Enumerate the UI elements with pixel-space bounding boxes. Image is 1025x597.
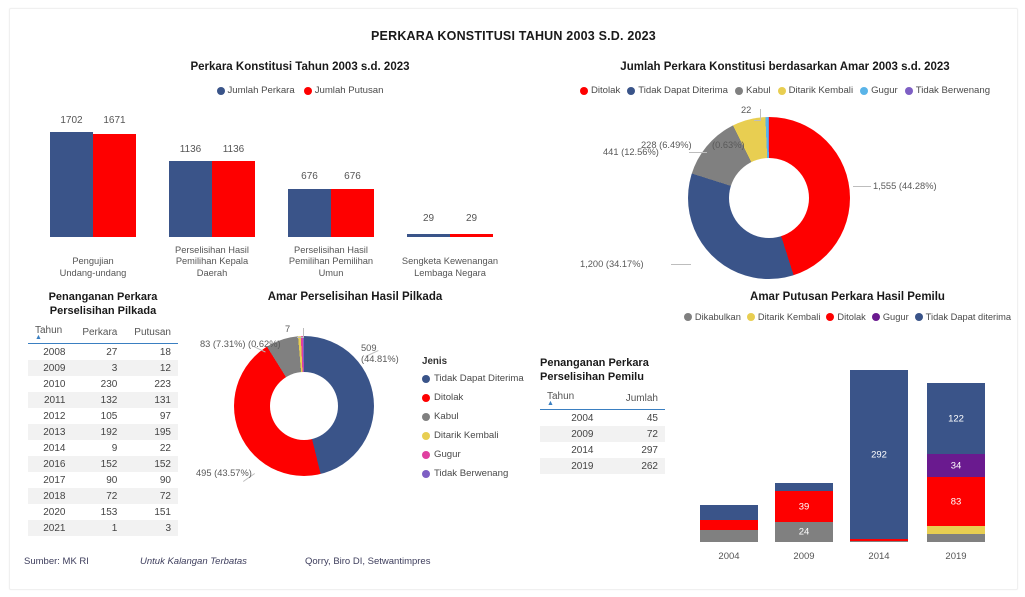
legend-dot-icon: [580, 87, 588, 95]
table-title-line2: Perselisihan Pemilu: [540, 371, 644, 383]
cell-tahun: 2019: [540, 458, 600, 474]
donut-pilkada-label-tidak-dapat-diterima: 509 (44.81%): [361, 343, 399, 365]
donut-pilkada-label-ditolak: 495 (43.57%): [196, 468, 252, 479]
cell-tahun: 2016: [28, 456, 72, 472]
donut-chart-pilkada[interactable]: [234, 336, 374, 476]
cell-tahun: 2017: [28, 472, 72, 488]
cell-jumlah: 297: [600, 442, 665, 458]
legend-dot-icon: [217, 87, 225, 95]
segment-dikabulkan[interactable]: [850, 541, 908, 542]
segment-tidak-dapat-diterima[interactable]: [700, 505, 758, 520]
legend-dot-icon: [872, 313, 880, 321]
cell-perkara: 132: [72, 392, 124, 408]
bar-value-label: 1136: [212, 144, 255, 155]
table-row[interactable]: 2014297: [540, 442, 665, 458]
donut-pilkada-label-kabul: 83 (7.31%): [200, 339, 245, 350]
legend-item-ditarik-kembali[interactable]: Ditarik Kembali: [747, 312, 821, 322]
cell-perkara: 105: [72, 408, 124, 424]
stacked-x-label-2004: 2004: [700, 551, 758, 562]
table-body: 20082718 2009312 2010230223 2011132131 2…: [28, 344, 178, 537]
cell-perkara: 230: [72, 376, 124, 392]
dashboard-panel: PERKARA KONSTITUSI TAHUN 2003 S.D. 2023 …: [9, 8, 1018, 590]
cell-tahun: 2004: [540, 410, 600, 427]
cell-tahun: 2010: [28, 376, 72, 392]
donut-amar-legend: Ditolak Tidak Dapat Diterima Kabul Ditar…: [555, 85, 1015, 96]
bar-value-label: 676: [288, 171, 331, 182]
legend-label: Jumlah Perkara: [228, 85, 295, 96]
cell-perkara: 72: [72, 488, 124, 504]
bar-putusan-pilkada[interactable]: [212, 161, 255, 237]
dashboard-canvas: PERKARA KONSTITUSI TAHUN 2003 S.D. 2023 …: [0, 0, 1025, 597]
cell-perkara: 3: [72, 360, 124, 376]
legend-dot-icon: [422, 451, 430, 459]
segment-tidak-dapat-diterima[interactable]: [775, 483, 833, 491]
table-penanganan-pemilu: Penanganan Perkara Perselisihan Pemilu T…: [540, 357, 665, 474]
leader-line: [689, 152, 707, 153]
cell-perkara: 90: [72, 472, 124, 488]
legend-label: Dikabulkan: [695, 312, 741, 322]
legend-dot-icon: [684, 313, 692, 321]
sort-ascending-icon: ▲: [547, 402, 593, 406]
bar-category-label: Perselisihan HasilPemilihan PemilihanUmu…: [289, 245, 373, 278]
stacked-bar-chart[interactable]: 2004 39 24 2009 292 2014 122: [675, 329, 1020, 564]
legend-dot-icon: [905, 87, 913, 95]
cell-tahun: 2011: [28, 392, 72, 408]
cell-putusan: 151: [124, 504, 178, 520]
donut-pilkada-legend: Jenis Tidak Dapat Diterima Ditolak Kabul…: [422, 356, 524, 479]
legend-label: Ditolak: [837, 312, 865, 322]
stacked-x-label-2014: 2014: [850, 551, 908, 562]
page-title: PERKARA KONSTITUSI TAHUN 2003 S.D. 2023: [10, 29, 1017, 43]
table-row[interactable]: 2010230223: [28, 376, 178, 392]
cell-putusan: 195: [124, 424, 178, 440]
bar-value-label: 676: [331, 171, 374, 182]
bar-chart-legend: Jumlah Perkara Jumlah Putusan: [50, 85, 550, 96]
cell-perkara: 1: [72, 520, 124, 536]
legend-label: Ditolak: [434, 392, 463, 403]
stacked-x-label-2019: 2019: [927, 551, 985, 562]
cell-putusan: 97: [124, 408, 178, 424]
legend-item-gugur[interactable]: Gugur: [872, 312, 909, 322]
legend-dot-icon: [422, 375, 430, 383]
stacked-column-2014[interactable]: 292: [850, 370, 908, 542]
bar-perkara-pengujian[interactable]: [50, 132, 93, 237]
legend-label: Ditarik Kembali: [434, 430, 499, 441]
legend-label: Ditolak: [591, 85, 620, 96]
table-row[interactable]: 2009312: [28, 360, 178, 376]
cell-tahun: 2020: [28, 504, 72, 520]
cell-perkara: 153: [72, 504, 124, 520]
cell-tahun: 2009: [28, 360, 72, 376]
cell-perkara: 27: [72, 344, 124, 361]
legend-title: Jenis: [422, 356, 524, 367]
table-row[interactable]: 2013192195: [28, 424, 178, 440]
bar-value-label: 29: [450, 213, 493, 224]
legend-label: Tidak Dapat Diterima: [434, 373, 524, 384]
footer-author: Qorry, Biro DI, Setwantimpres: [305, 556, 430, 567]
bar-value-label: 1702: [50, 115, 93, 126]
donut-amar-label-ditarik: 228 (6.49%): [641, 140, 692, 151]
cell-putusan: 90: [124, 472, 178, 488]
table-row[interactable]: 20082718: [28, 344, 178, 361]
table-row[interactable]: 2014922: [28, 440, 178, 456]
column-header-jumlah[interactable]: Jumlah: [600, 389, 665, 410]
legend-label: Tidak Berwenang: [434, 468, 508, 479]
column-header-putusan[interactable]: Putusan: [124, 323, 178, 344]
legend-label: Ditarik Kembali: [789, 85, 854, 96]
table-row[interactable]: 20187272: [28, 488, 178, 504]
cell-tahun: 2018: [28, 488, 72, 504]
legend-item-tidak-dapat-diterima[interactable]: Tidak Dapat Diterima: [627, 85, 728, 96]
table-row[interactable]: 200972: [540, 426, 665, 442]
table-row[interactable]: 201210597: [28, 408, 178, 424]
segment-value-label: 34: [927, 460, 985, 471]
bar-category-label: PengujianUndang-undang: [60, 256, 127, 278]
table-row[interactable]: 202113: [28, 520, 178, 536]
segment-ditolak[interactable]: [700, 520, 758, 530]
legend-label: Tidak Dapat Diterima: [638, 85, 728, 96]
donut-pilkada-label-ditarik-pct: (0.62%): [248, 339, 281, 350]
cell-tahun: 2012: [28, 408, 72, 424]
bar-perkara-pilkada[interactable]: [169, 161, 212, 237]
segment-dikabulkan[interactable]: [700, 530, 758, 542]
donut-hole: [270, 372, 338, 440]
cell-tahun: 2014: [28, 440, 72, 456]
legend-item-ditarik-kembali[interactable]: Ditarik Kembali: [422, 430, 524, 441]
legend-dot-icon: [747, 313, 755, 321]
cell-tahun: 2014: [540, 442, 600, 458]
segment-dikabulkan[interactable]: 24: [775, 522, 833, 542]
label-value: 509: [361, 343, 377, 353]
segment-dikabulkan[interactable]: [927, 534, 985, 542]
legend-label: Jumlah Putusan: [315, 85, 384, 96]
legend-dot-icon: [422, 470, 430, 478]
cell-putusan: 22: [124, 440, 178, 456]
bar-category-label: Perselisihan HasilPemilihan KepalaDaerah: [175, 245, 249, 278]
legend-label: Tidak Dapat diterima: [926, 312, 1011, 322]
legend-item-tidak-dapat-diterima[interactable]: Tidak Dapat diterima: [915, 312, 1011, 322]
legend-dot-icon: [915, 313, 923, 321]
legend-item-ditolak[interactable]: Ditolak: [826, 312, 865, 322]
table-body: 200445 200972 2014297 2019262: [540, 410, 665, 475]
table: Tahun ▲ Perkara Putusan 20082718 2009312…: [28, 323, 178, 536]
donut-hole: [729, 158, 809, 238]
cell-tahun: 2008: [28, 344, 72, 361]
legend-dot-icon: [304, 87, 312, 95]
segment-value-label: 24: [775, 527, 833, 538]
sort-ascending-icon: ▲: [35, 336, 65, 340]
bar-value-label: 29: [407, 213, 450, 224]
legend-item-gugur[interactable]: Gugur: [860, 85, 898, 96]
bar-putusan-pemilu[interactable]: [331, 189, 374, 237]
segment-tidak-dapat-diterima[interactable]: 122: [927, 383, 985, 454]
legend-item-ditolak[interactable]: Ditolak: [422, 392, 524, 403]
legend-dot-icon: [860, 87, 868, 95]
legend-item-tidak-dapat-diterima[interactable]: Tidak Dapat Diterima: [422, 373, 524, 384]
legend-item-jumlah-putusan[interactable]: Jumlah Putusan: [304, 85, 384, 96]
segment-gugur[interactable]: 34: [927, 454, 985, 477]
donut-amar-label-ditolak: 1,555 (44.28%): [873, 181, 937, 192]
legend-dot-icon: [778, 87, 786, 95]
cell-tahun: 2013: [28, 424, 72, 440]
legend-item-jumlah-perkara[interactable]: Jumlah Perkara: [217, 85, 295, 96]
table-row[interactable]: 200445: [540, 410, 665, 427]
table-title-line1: Penanganan Perkara: [49, 291, 158, 303]
stacked-column-2019[interactable]: 122 34 83: [927, 383, 985, 542]
table-row[interactable]: 2016152152: [28, 456, 178, 472]
cell-putusan: 3: [124, 520, 178, 536]
cell-putusan: 18: [124, 344, 178, 361]
stacked-column-2004[interactable]: [700, 505, 758, 542]
donut-amar-label-gugur-pct: (0.63%): [712, 140, 745, 151]
table-row[interactable]: 20179090: [28, 472, 178, 488]
cell-tahun: 2021: [28, 520, 72, 536]
legend-dot-icon: [422, 394, 430, 402]
legend-item-gugur[interactable]: Gugur: [422, 449, 524, 460]
donut-amar-label-tidak-dapat-diterima: 1,200 (34.17%): [580, 259, 644, 270]
leader-line: [297, 337, 304, 338]
legend-item-kabul[interactable]: Kabul: [735, 85, 771, 96]
legend-label: Ditarik Kembali: [758, 312, 821, 322]
segment-value-label: 292: [850, 449, 908, 460]
legend-item-ditolak[interactable]: Ditolak: [580, 85, 620, 96]
table-penanganan-pilkada: Penanganan Perkara Perselisihan Pilkada …: [28, 291, 178, 536]
cell-putusan: 223: [124, 376, 178, 392]
segment-tidak-dapat-diterima[interactable]: 292: [850, 370, 908, 539]
segment-value-label: 39: [775, 501, 833, 512]
segment-ditarik-kembali[interactable]: [927, 526, 985, 534]
table-title-line2: Perselisihan Pilkada: [50, 305, 156, 317]
segment-value-label: 122: [927, 413, 985, 424]
donut-pilkada-label-ditarik-value: 7: [285, 324, 290, 335]
stacked-column-2009[interactable]: 39 24: [775, 483, 833, 542]
stacked-chart-legend: Dikabulkan Ditarik Kembali Ditolak Gugur…: [670, 312, 1025, 322]
bar-chart-title: Perkara Konstitusi Tahun 2003 s.d. 2023: [50, 61, 550, 73]
donut-pilkada-title: Amar Perselisihan Hasil Pilkada: [195, 291, 515, 303]
table-header-row: Tahun ▲ Perkara Putusan: [28, 323, 178, 344]
segment-value-label: 83: [927, 496, 985, 507]
bar-chart[interactable]: 1702 1671 PengujianUndang-undang 1136 11…: [50, 109, 550, 279]
legend-label: Gugur: [883, 312, 909, 322]
label-percent: (44.81%): [361, 354, 399, 364]
table-row[interactable]: 2019262: [540, 458, 665, 474]
segment-ditolak[interactable]: 83: [927, 477, 985, 526]
cell-perkara: 192: [72, 424, 124, 440]
table-row[interactable]: 2011132131: [28, 392, 178, 408]
column-header-tahun[interactable]: Tahun ▲: [28, 323, 72, 344]
legend-label: Kabul: [434, 411, 459, 422]
segment-ditolak[interactable]: 39: [775, 491, 833, 522]
legend-item-kabul[interactable]: Kabul: [422, 411, 524, 422]
legend-label: Tidak Berwenang: [916, 85, 990, 96]
bar-perkara-sengketa[interactable]: [407, 234, 450, 237]
bar-perkara-pemilu[interactable]: [288, 189, 331, 237]
legend-label: Kabul: [746, 85, 771, 96]
legend-dot-icon: [627, 87, 635, 95]
bar-putusan-pengujian[interactable]: [93, 134, 136, 237]
cell-putusan: 12: [124, 360, 178, 376]
cell-putusan: 131: [124, 392, 178, 408]
cell-putusan: 152: [124, 456, 178, 472]
column-header-perkara[interactable]: Perkara: [72, 323, 124, 344]
leader-line: [853, 186, 871, 187]
legend-dot-icon: [826, 313, 834, 321]
footer-source: Sumber: MK RI: [24, 556, 89, 567]
legend-item-ditarik-kembali[interactable]: Ditarik Kembali: [778, 85, 854, 96]
bar-value-label: 1136: [169, 144, 212, 155]
bar-category-label: Sengketa KewenanganLembaga Negara: [402, 256, 498, 278]
cell-perkara: 9: [72, 440, 124, 456]
legend-label: Gugur: [871, 85, 898, 96]
cell-putusan: 72: [124, 488, 178, 504]
table-title-line1: Penanganan Perkara: [540, 357, 649, 369]
stacked-x-label-2009: 2009: [775, 551, 833, 562]
legend-dot-icon: [422, 432, 430, 440]
cell-jumlah: 45: [600, 410, 665, 427]
bar-value-label: 1671: [93, 115, 136, 126]
cell-jumlah: 262: [600, 458, 665, 474]
column-header-tahun[interactable]: Tahun ▲: [540, 389, 600, 410]
cell-jumlah: 72: [600, 426, 665, 442]
leader-line: [671, 264, 691, 265]
footer-restriction: Untuk Kalangan Terbatas: [140, 556, 247, 567]
legend-item-tidak-berwenang[interactable]: Tidak Berwenang: [422, 468, 524, 479]
bar-putusan-sengketa[interactable]: [450, 234, 493, 237]
donut-amar-title: Jumlah Perkara Konstitusi berdasarkan Am…: [555, 61, 1015, 73]
table-header-row: Tahun ▲ Jumlah: [540, 389, 665, 410]
cell-perkara: 152: [72, 456, 124, 472]
stacked-chart-title: Amar Putusan Perkara Hasil Pemilu: [675, 291, 1020, 303]
legend-item-dikabulkan[interactable]: Dikabulkan: [684, 312, 741, 322]
cell-tahun: 2009: [540, 426, 600, 442]
donut-amar-label-gugur-value: 22: [741, 105, 751, 116]
legend-label: Gugur: [434, 449, 461, 460]
table-row[interactable]: 2020153151: [28, 504, 178, 520]
legend-dot-icon: [422, 413, 430, 421]
leader-line: [754, 120, 761, 121]
legend-dot-icon: [735, 87, 743, 95]
table: Tahun ▲ Jumlah 200445 200972 2014297 201…: [540, 389, 665, 474]
legend-item-tidak-berwenang[interactable]: Tidak Berwenang: [905, 85, 990, 96]
